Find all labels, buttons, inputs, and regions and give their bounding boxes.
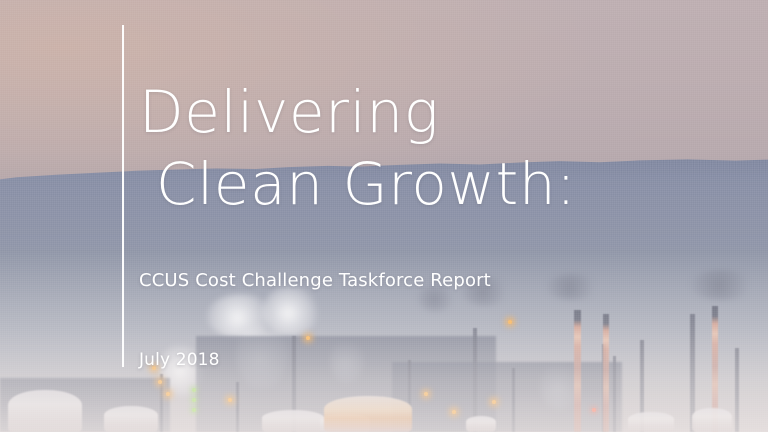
vertical-accent-rule xyxy=(122,25,124,367)
smokestack xyxy=(574,310,581,432)
smoke-plume xyxy=(262,286,320,336)
industrial-plant-layer xyxy=(0,280,768,432)
smokestack xyxy=(613,356,616,432)
plant-lamp xyxy=(192,408,196,412)
plant-lamp xyxy=(424,392,428,396)
smoke-plume xyxy=(546,274,598,300)
storage-tank xyxy=(628,412,674,432)
storage-tank xyxy=(8,390,82,432)
report-cover: Delivering Clean Growth: CCUS Cost Chall… xyxy=(0,0,768,432)
plant-lamp xyxy=(228,398,232,402)
smokestack xyxy=(603,314,609,432)
plant-lamp xyxy=(492,400,496,404)
plant-lamp xyxy=(306,336,310,340)
storage-tank xyxy=(466,416,496,432)
report-subtitle: CCUS Cost Challenge Taskforce Report xyxy=(139,270,491,291)
storage-tank xyxy=(324,396,412,432)
storage-tank xyxy=(262,410,324,432)
plant-lamp xyxy=(452,410,456,414)
plant-building xyxy=(392,362,622,432)
plant-lamp xyxy=(158,380,162,384)
title-line-2: Clean Growth: xyxy=(139,148,739,220)
publication-date: July 2018 xyxy=(139,350,220,370)
plant-lamp xyxy=(192,398,196,402)
storage-tank xyxy=(692,408,732,432)
plant-lamp xyxy=(508,320,512,324)
storage-tank xyxy=(104,406,158,432)
smoke-plume xyxy=(690,270,754,300)
smokestack xyxy=(236,382,239,432)
smokestack xyxy=(735,348,739,432)
smokestack xyxy=(512,368,515,432)
title-line-1: Delivering xyxy=(139,76,739,148)
plant-lamp xyxy=(592,408,596,412)
plant-lamp xyxy=(166,392,170,396)
title-block: Delivering Clean Growth: xyxy=(139,76,739,220)
plant-lamp xyxy=(192,388,196,392)
